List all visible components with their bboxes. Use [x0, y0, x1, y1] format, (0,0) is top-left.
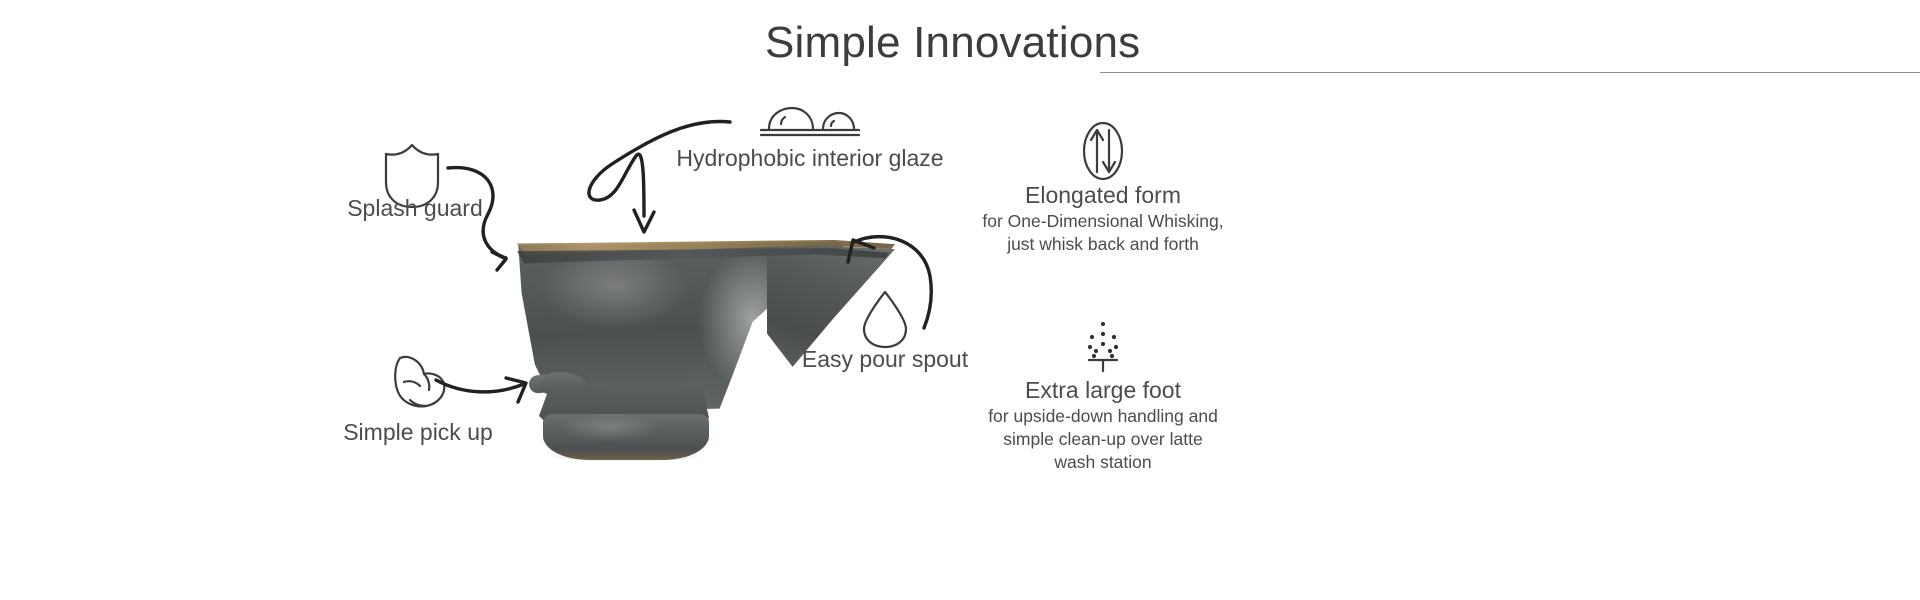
callout-subline: wash station [903, 451, 1303, 474]
callout-extra-large-foot: Extra large foot for upside-down handlin… [903, 376, 1303, 475]
header: Simple Innovations [0, 0, 1920, 90]
callout-subline: for upside-down handling and [903, 405, 1303, 428]
title-underline-rule [1100, 72, 1920, 73]
callout-subline: just whisk back and forth [903, 233, 1303, 256]
callout-heading: Easy pour spout [775, 345, 995, 374]
arrow-splash-guard [440, 160, 560, 280]
arrow-simple-pick-up [432, 372, 544, 432]
page-title: Simple Innovations [765, 19, 1140, 67]
arrow-hydrophobic-glaze [578, 112, 748, 247]
up-down-arrows-ellipse-icon [1078, 120, 1128, 182]
callout-heading: Extra large foot [903, 376, 1303, 405]
callout-elongated-form: Elongated form for One-Dimensional Whisk… [903, 181, 1303, 256]
spray-rinse-icon [1080, 320, 1126, 372]
callout-heading: Elongated form [903, 181, 1303, 210]
callout-subline: simple clean-up over latte [903, 428, 1303, 451]
bowl-shadow [545, 452, 705, 462]
infographic-canvas: Simple Innovations Splash guard [0, 0, 1920, 600]
callout-easy-pour-spout: Easy pour spout [775, 345, 995, 374]
water-beading-icon [757, 103, 861, 139]
callout-subline: for One-Dimensional Whisking, [903, 210, 1303, 233]
